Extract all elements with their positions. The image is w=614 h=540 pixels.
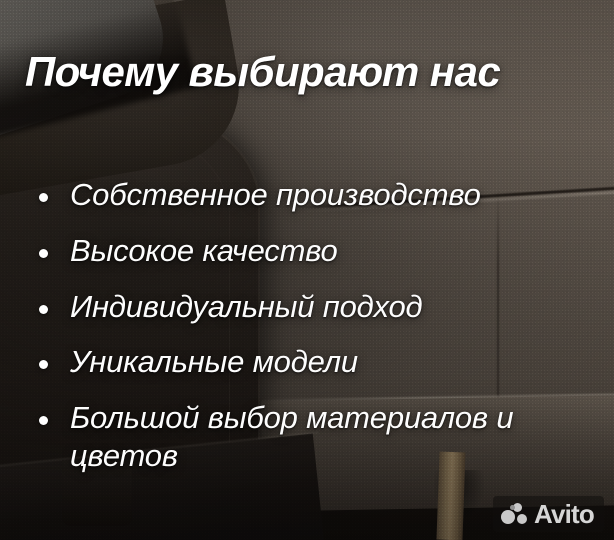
benefits-list: Собственное производство Высокое качеств…: [30, 176, 590, 475]
poster-content: Почему выбирают нас Собственное производ…: [0, 0, 614, 540]
avito-dots-icon: [501, 503, 527, 525]
list-item: Большой выбор материалов и цветов: [30, 399, 590, 475]
list-item: Индивидуальный подход: [30, 288, 590, 326]
avito-watermark: Avito: [493, 496, 604, 532]
list-item: Высокое качество: [30, 232, 590, 270]
avito-wordmark: Avito: [534, 501, 594, 527]
promo-poster: Почему выбирают нас Собственное производ…: [0, 0, 614, 540]
list-item: Уникальные модели: [30, 343, 590, 381]
page-title: Почему выбирают нас: [25, 50, 500, 94]
list-item: Собственное производство: [30, 176, 590, 214]
